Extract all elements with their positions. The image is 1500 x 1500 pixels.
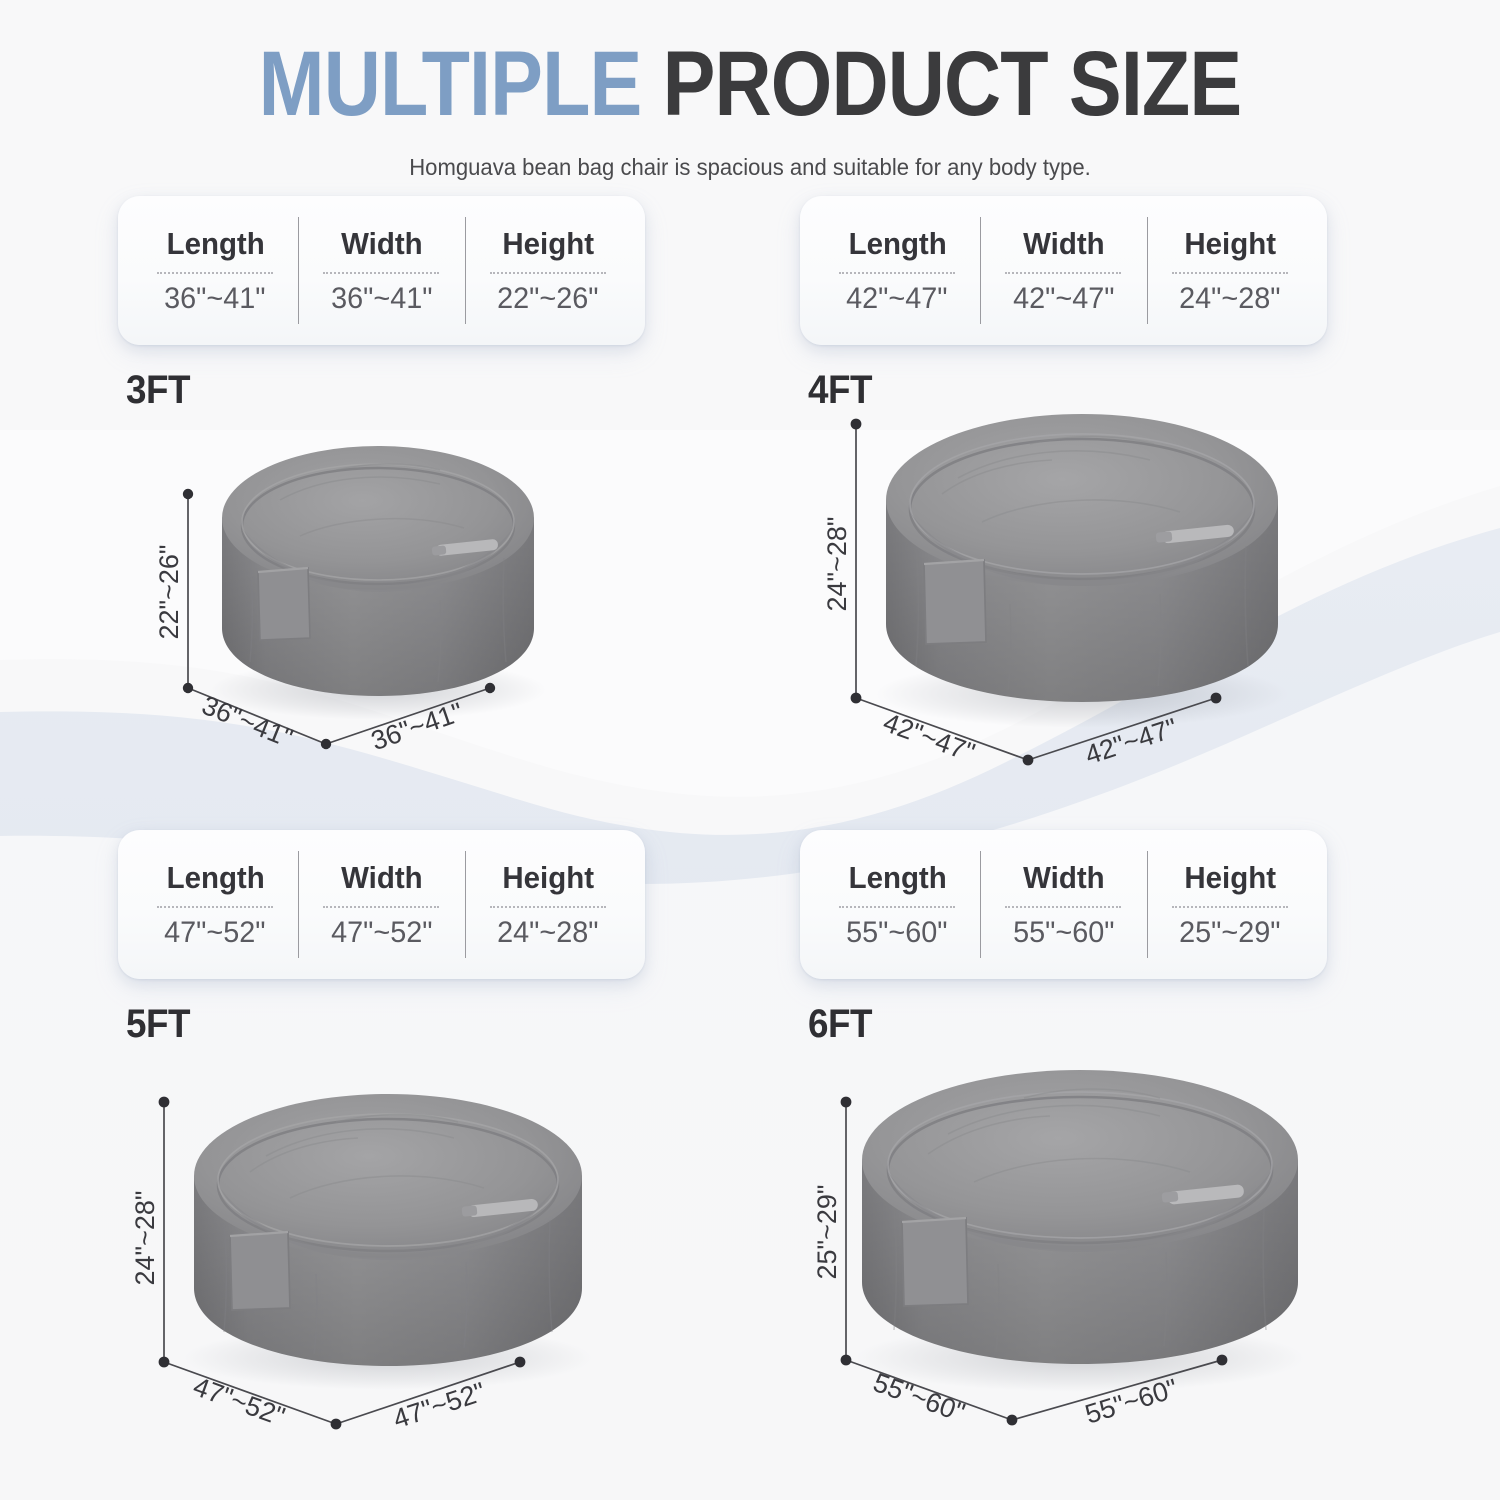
dotted-rule — [839, 906, 955, 908]
spec-col-width: Width 36"~41" — [298, 196, 464, 345]
infographic-canvas: MULTIPLE PRODUCT SIZE Homguava bean bag … — [0, 0, 1500, 1500]
size-label-4ft: 4FT — [808, 368, 872, 413]
spec-col-height: Height 22"~26" — [465, 196, 631, 345]
dotted-rule — [1005, 272, 1121, 274]
page-title: MULTIPLE PRODUCT SIZE — [105, 38, 1395, 130]
dotted-rule — [839, 272, 955, 274]
dotted-rule — [157, 906, 273, 908]
spec-value-length: 36"~41" — [164, 282, 265, 316]
dim-height-label-5ft: 24"~28" — [130, 1190, 160, 1285]
spec-value-width: 55"~60" — [1013, 916, 1114, 950]
spec-col-width: Width 42"~47" — [980, 196, 1146, 345]
spec-value-width: 36"~41" — [331, 282, 432, 316]
spec-col-height: Height 24"~28" — [465, 830, 631, 979]
dotted-rule — [490, 906, 606, 908]
dotted-rule — [323, 906, 439, 908]
product-figure-5ft: 24"~28" 47"~52" 47"~52" — [130, 1040, 650, 1440]
spec-col-length: Length 42"~47" — [814, 196, 980, 345]
spec-card-3ft: Length 36"~41" Width 36"~41" Height 22"~… — [118, 196, 645, 345]
size-label-3ft: 3FT — [126, 368, 190, 413]
col-header-length: Length — [166, 860, 264, 896]
header: MULTIPLE PRODUCT SIZE Homguava bean bag … — [0, 0, 1500, 181]
spec-value-width: 47"~52" — [331, 916, 432, 950]
size-label-6ft: 6FT — [808, 1002, 872, 1047]
product-figure-4ft: 24"~28" 42"~47" 42"~47" — [812, 372, 1352, 777]
col-header-height: Height — [1184, 860, 1276, 896]
dotted-rule — [1172, 906, 1288, 908]
spec-col-length: Length 47"~52" — [132, 830, 298, 979]
dim-height-label-4ft: 24"~28" — [822, 516, 852, 611]
page-subtitle: Homguava bean bag chair is spacious and … — [45, 154, 1455, 181]
spec-card-4ft: Length 42"~47" Width 42"~47" Height 24"~… — [800, 196, 1327, 345]
dim-height-label-6ft: 25"~29" — [812, 1184, 842, 1279]
col-header-length: Length — [166, 226, 264, 262]
spec-card-5ft: Length 47"~52" Width 47"~52" Height 24"~… — [118, 830, 645, 979]
spec-value-height: 24"~28" — [1179, 282, 1280, 316]
spec-value-length: 42"~47" — [846, 282, 947, 316]
dotted-rule — [323, 272, 439, 274]
spec-col-height: Height 25"~29" — [1147, 830, 1313, 979]
col-header-height: Height — [502, 860, 594, 896]
spec-col-width: Width 47"~52" — [298, 830, 464, 979]
spec-card-6ft: Length 55"~60" Width 55"~60" Height 25"~… — [800, 830, 1327, 979]
spec-value-height: 24"~28" — [497, 916, 598, 950]
product-figure-3ft: 22"~26" 36"~41" 36"~41" — [140, 400, 640, 760]
spec-value-height: 22"~26" — [497, 282, 598, 316]
spec-col-width: Width 55"~60" — [980, 830, 1146, 979]
product-figure-6ft: 25"~29" 55"~60" 55"~60" — [800, 1020, 1360, 1445]
col-header-width: Width — [1023, 226, 1105, 262]
title-highlight: MULTIPLE — [259, 33, 642, 135]
dotted-rule — [1005, 906, 1121, 908]
col-header-width: Width — [341, 226, 423, 262]
col-header-height: Height — [502, 226, 594, 262]
title-rest: PRODUCT SIZE — [663, 33, 1242, 135]
dotted-rule — [490, 272, 606, 274]
spec-value-height: 25"~29" — [1179, 916, 1280, 950]
size-label-5ft: 5FT — [126, 1002, 190, 1047]
spec-value-length: 47"~52" — [164, 916, 265, 950]
dim-height-label-3ft: 22"~26" — [154, 544, 184, 639]
spec-value-width: 42"~47" — [1013, 282, 1114, 316]
col-header-length: Length — [848, 226, 946, 262]
spec-col-height: Height 24"~28" — [1147, 196, 1313, 345]
dotted-rule — [157, 272, 273, 274]
dotted-rule — [1172, 272, 1288, 274]
col-header-width: Width — [341, 860, 423, 896]
col-header-length: Length — [848, 860, 946, 896]
col-header-width: Width — [1023, 860, 1105, 896]
spec-col-length: Length 36"~41" — [132, 196, 298, 345]
spec-value-length: 55"~60" — [846, 916, 947, 950]
col-header-height: Height — [1184, 226, 1276, 262]
spec-col-length: Length 55"~60" — [814, 830, 980, 979]
